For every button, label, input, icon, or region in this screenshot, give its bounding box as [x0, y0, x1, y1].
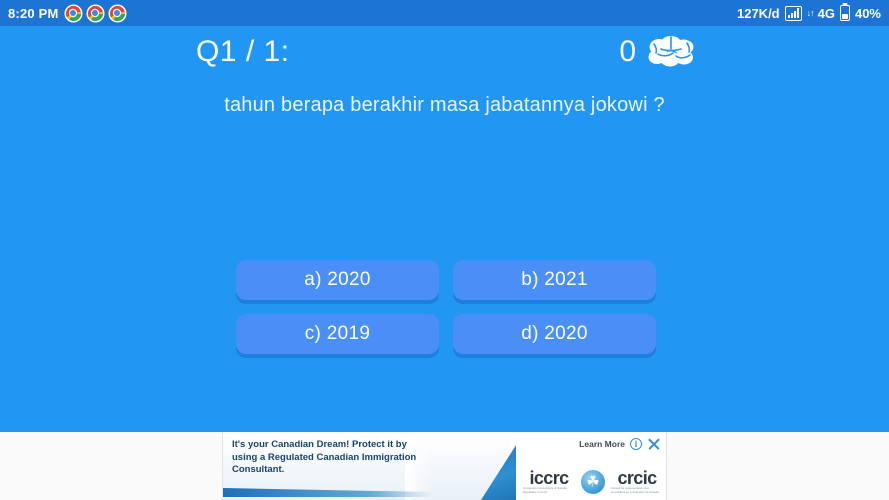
score-value: 0 [619, 35, 636, 69]
status-bar: 8:20 PM 127K/d ↓↑ 4G 40% [0, 0, 889, 26]
ad-learn-more-label[interactable]: Learn More [579, 439, 625, 449]
ad-right-panel: Learn More i iccrc Immigration Consultan… [516, 432, 666, 500]
answer-option-a[interactable]: a) 2020 [236, 260, 439, 300]
status-bar-right: 127K/d ↓↑ 4G 40% [737, 5, 881, 21]
chrome-icon [88, 6, 103, 21]
ad-logo-crcic-word: crcic [617, 470, 656, 487]
score-display: 0 [619, 34, 696, 70]
answer-option-d[interactable]: d) 2020 [453, 314, 656, 354]
ad-logos: iccrc Immigration Consultants of Canada … [523, 470, 663, 494]
ad-logo-iccrc-word: iccrc [529, 470, 568, 487]
network-type-label: 4G [818, 6, 835, 21]
ad-logo-iccrc: iccrc Immigration Consultants of Canada … [523, 470, 575, 494]
quiz-header: Q1 / 1: 0 [196, 34, 696, 70]
signal-bars-icon [785, 6, 802, 21]
answer-options: a) 2020 b) 2021 c) 2019 d) 2020 [236, 260, 656, 354]
maple-leaf-icon: ☘ [581, 470, 605, 494]
close-icon[interactable] [647, 437, 660, 450]
chrome-icon [110, 6, 125, 21]
ad-blue-underline [223, 488, 433, 497]
answer-option-b[interactable]: b) 2021 [453, 260, 656, 300]
battery-percent-label: 40% [855, 6, 881, 21]
ad-left-panel: It's your Canadian Dream! Protect it by … [223, 432, 511, 500]
ad-learn-more-group[interactable]: Learn More i [579, 437, 660, 450]
quiz-app-body: Q1 / 1: 0 [0, 26, 889, 432]
maple-leaf-glyph: ☘ [586, 475, 599, 490]
data-transfer-icon: ↓↑ [807, 9, 814, 18]
ad-banner[interactable]: It's your Canadian Dream! Protect it by … [222, 432, 667, 500]
answer-option-c[interactable]: c) 2019 [236, 314, 439, 354]
question-counter: Q1 / 1: [196, 35, 290, 69]
question-text: tahun berapa berakhir masa jabatannya jo… [115, 94, 775, 117]
brain-icon [646, 34, 696, 70]
ad-headline: It's your Canadian Dream! Protect it by … [232, 439, 424, 477]
ad-logo-iccrc-subtitle: Immigration Consultants of Canada Regula… [523, 487, 575, 494]
ad-logo-crcic-subtitle: Conseil de réglementation des consultant… [611, 487, 663, 494]
chrome-icon [66, 6, 81, 21]
info-icon[interactable]: i [630, 438, 642, 450]
status-bar-left: 8:20 PM [8, 6, 125, 21]
battery-icon [840, 5, 850, 21]
network-speed-label: 127K/d [737, 6, 780, 21]
status-clock: 8:20 PM [8, 6, 59, 21]
phone-screen: 8:20 PM 127K/d ↓↑ 4G 40% Q1 / 1: 0 [0, 0, 889, 500]
ad-logo-crcic: crcic Conseil de réglementation des cons… [611, 470, 663, 494]
